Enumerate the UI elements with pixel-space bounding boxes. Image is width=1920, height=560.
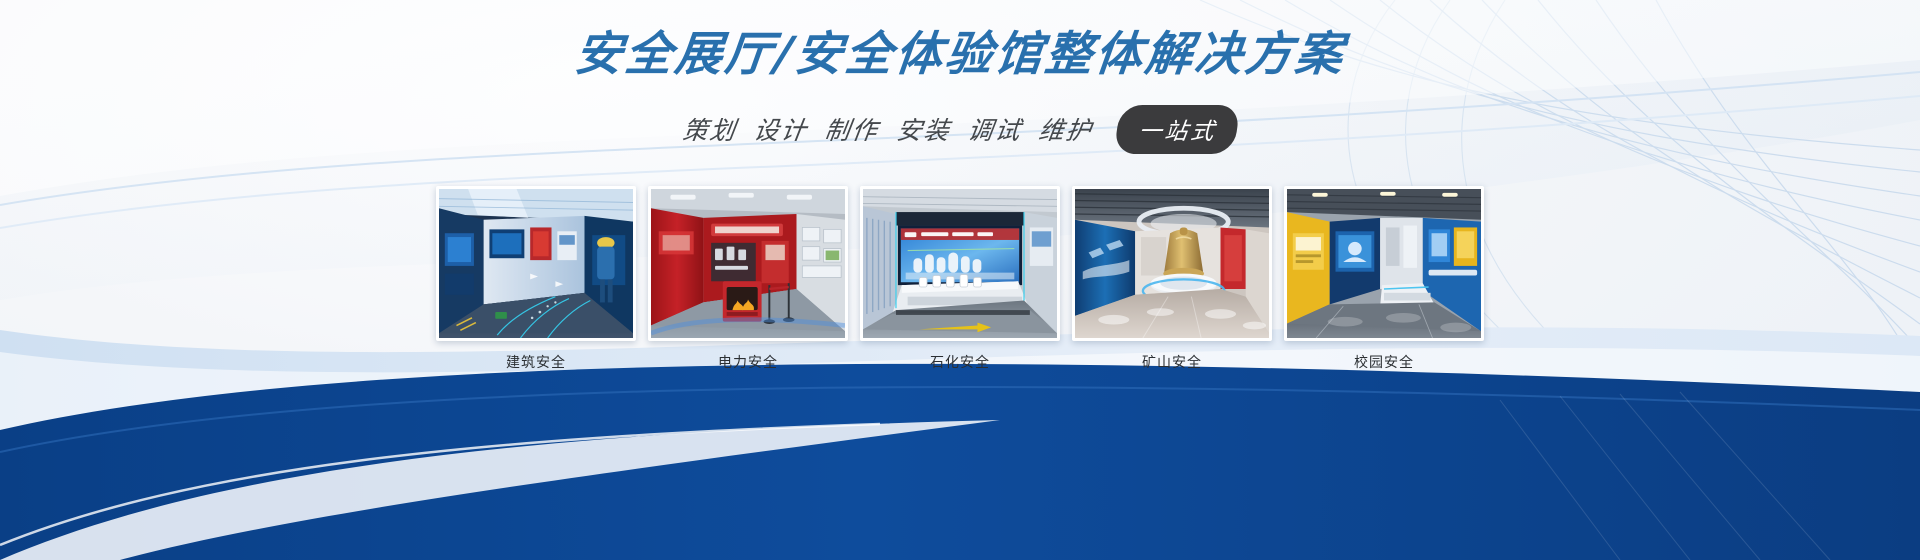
gallery-caption-1: 电力安全 [648,352,848,372]
service-item-0: 策划 [681,111,740,147]
gallery-item-0[interactable]: 建筑安全 [436,186,636,372]
gallery: 建筑安全 [0,186,1920,372]
gallery-item-3[interactable]: 矿山安全 [1072,186,1272,372]
gallery-item-1[interactable]: 电力安全 [648,186,848,372]
construction-safety-hall-illustration [439,189,633,338]
gallery-caption-3: 矿山安全 [1072,352,1272,372]
gallery-thumb-construction[interactable] [436,186,636,341]
gallery-thumb-petrochemical[interactable] [860,186,1060,341]
gallery-caption-4: 校园安全 [1284,352,1484,372]
page-title: 安全展厅/安全体验馆整体解决方案 [572,26,1348,85]
service-item-1: 设计 [752,111,811,147]
service-item-5: 维护 [1036,111,1095,147]
gallery-thumb-mining[interactable] [1072,186,1272,341]
banner-content: 安全展厅/安全体验馆整体解决方案 策划 设计 制作 安装 调试 维护 一站式 [0,0,1920,372]
gallery-caption-2: 石化安全 [860,352,1060,372]
one-stop-badge: 一站式 [1113,105,1240,154]
mining-safety-hall-illustration [1075,189,1269,338]
gallery-thumb-campus[interactable] [1284,186,1484,341]
campus-safety-hall-illustration [1287,189,1481,338]
gallery-item-2[interactable]: 石化安全 [860,186,1060,372]
service-item-2: 制作 [823,111,882,147]
petrochemical-safety-hall-illustration [863,189,1057,338]
gallery-item-4[interactable]: 校园安全 [1284,186,1484,372]
service-item-3: 安装 [894,111,953,147]
gallery-thumb-power[interactable] [648,186,848,341]
power-safety-hall-illustration [651,189,845,338]
service-item-4: 调试 [965,111,1024,147]
banner-root: 安全展厅/安全体验馆整体解决方案 策划 设计 制作 安装 调试 维护 一站式 [0,0,1920,560]
gallery-caption-0: 建筑安全 [436,352,636,372]
service-list: 策划 设计 制作 安装 调试 维护 一站式 [0,105,1920,154]
